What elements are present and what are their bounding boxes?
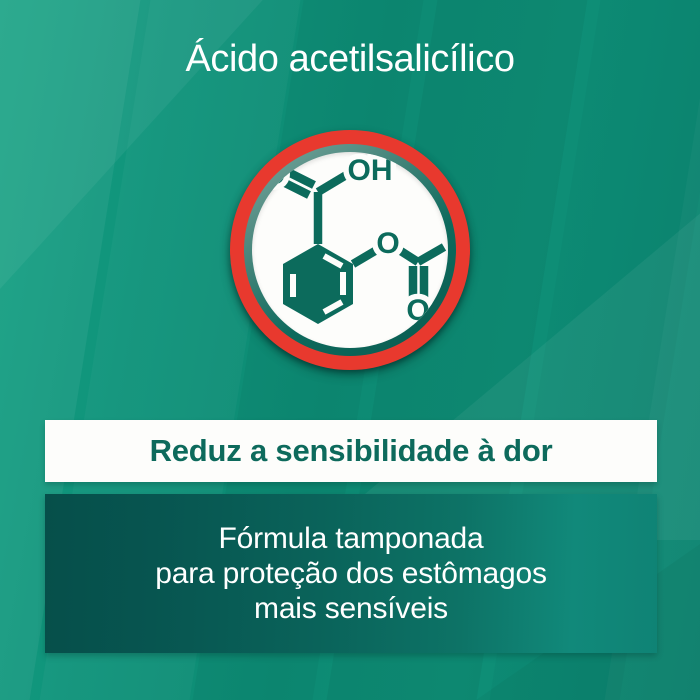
atom-label-oh-glyph: OH — [348, 154, 393, 187]
benefit-banner-secondary-line-2: para proteção dos estômagos — [155, 556, 547, 591]
atom-label-o-ester-glyph: O — [376, 227, 399, 260]
benefit-banner-secondary: Fórmula tamponada para proteção dos estô… — [45, 494, 657, 653]
poster-root: Ácido acetilsalicílico — [0, 0, 700, 700]
badge-face: O O OH OH O O O O — [252, 152, 448, 348]
molecule-badge: O O OH OH O O O O — [228, 128, 472, 372]
page-title: Ácido acetilsalicílico — [0, 38, 700, 82]
benefit-banner-primary: Reduz a sensibilidade à dor — [45, 420, 657, 482]
benefit-banner-secondary-line-3: mais sensíveis — [254, 591, 448, 626]
benefit-banner-secondary-line-1: Fórmula tamponada — [218, 521, 483, 556]
aspirin-molecule-icon: O O OH OH O O O O — [252, 152, 448, 348]
benefit-banner-primary-text: Reduz a sensibilidade à dor — [150, 433, 553, 469]
